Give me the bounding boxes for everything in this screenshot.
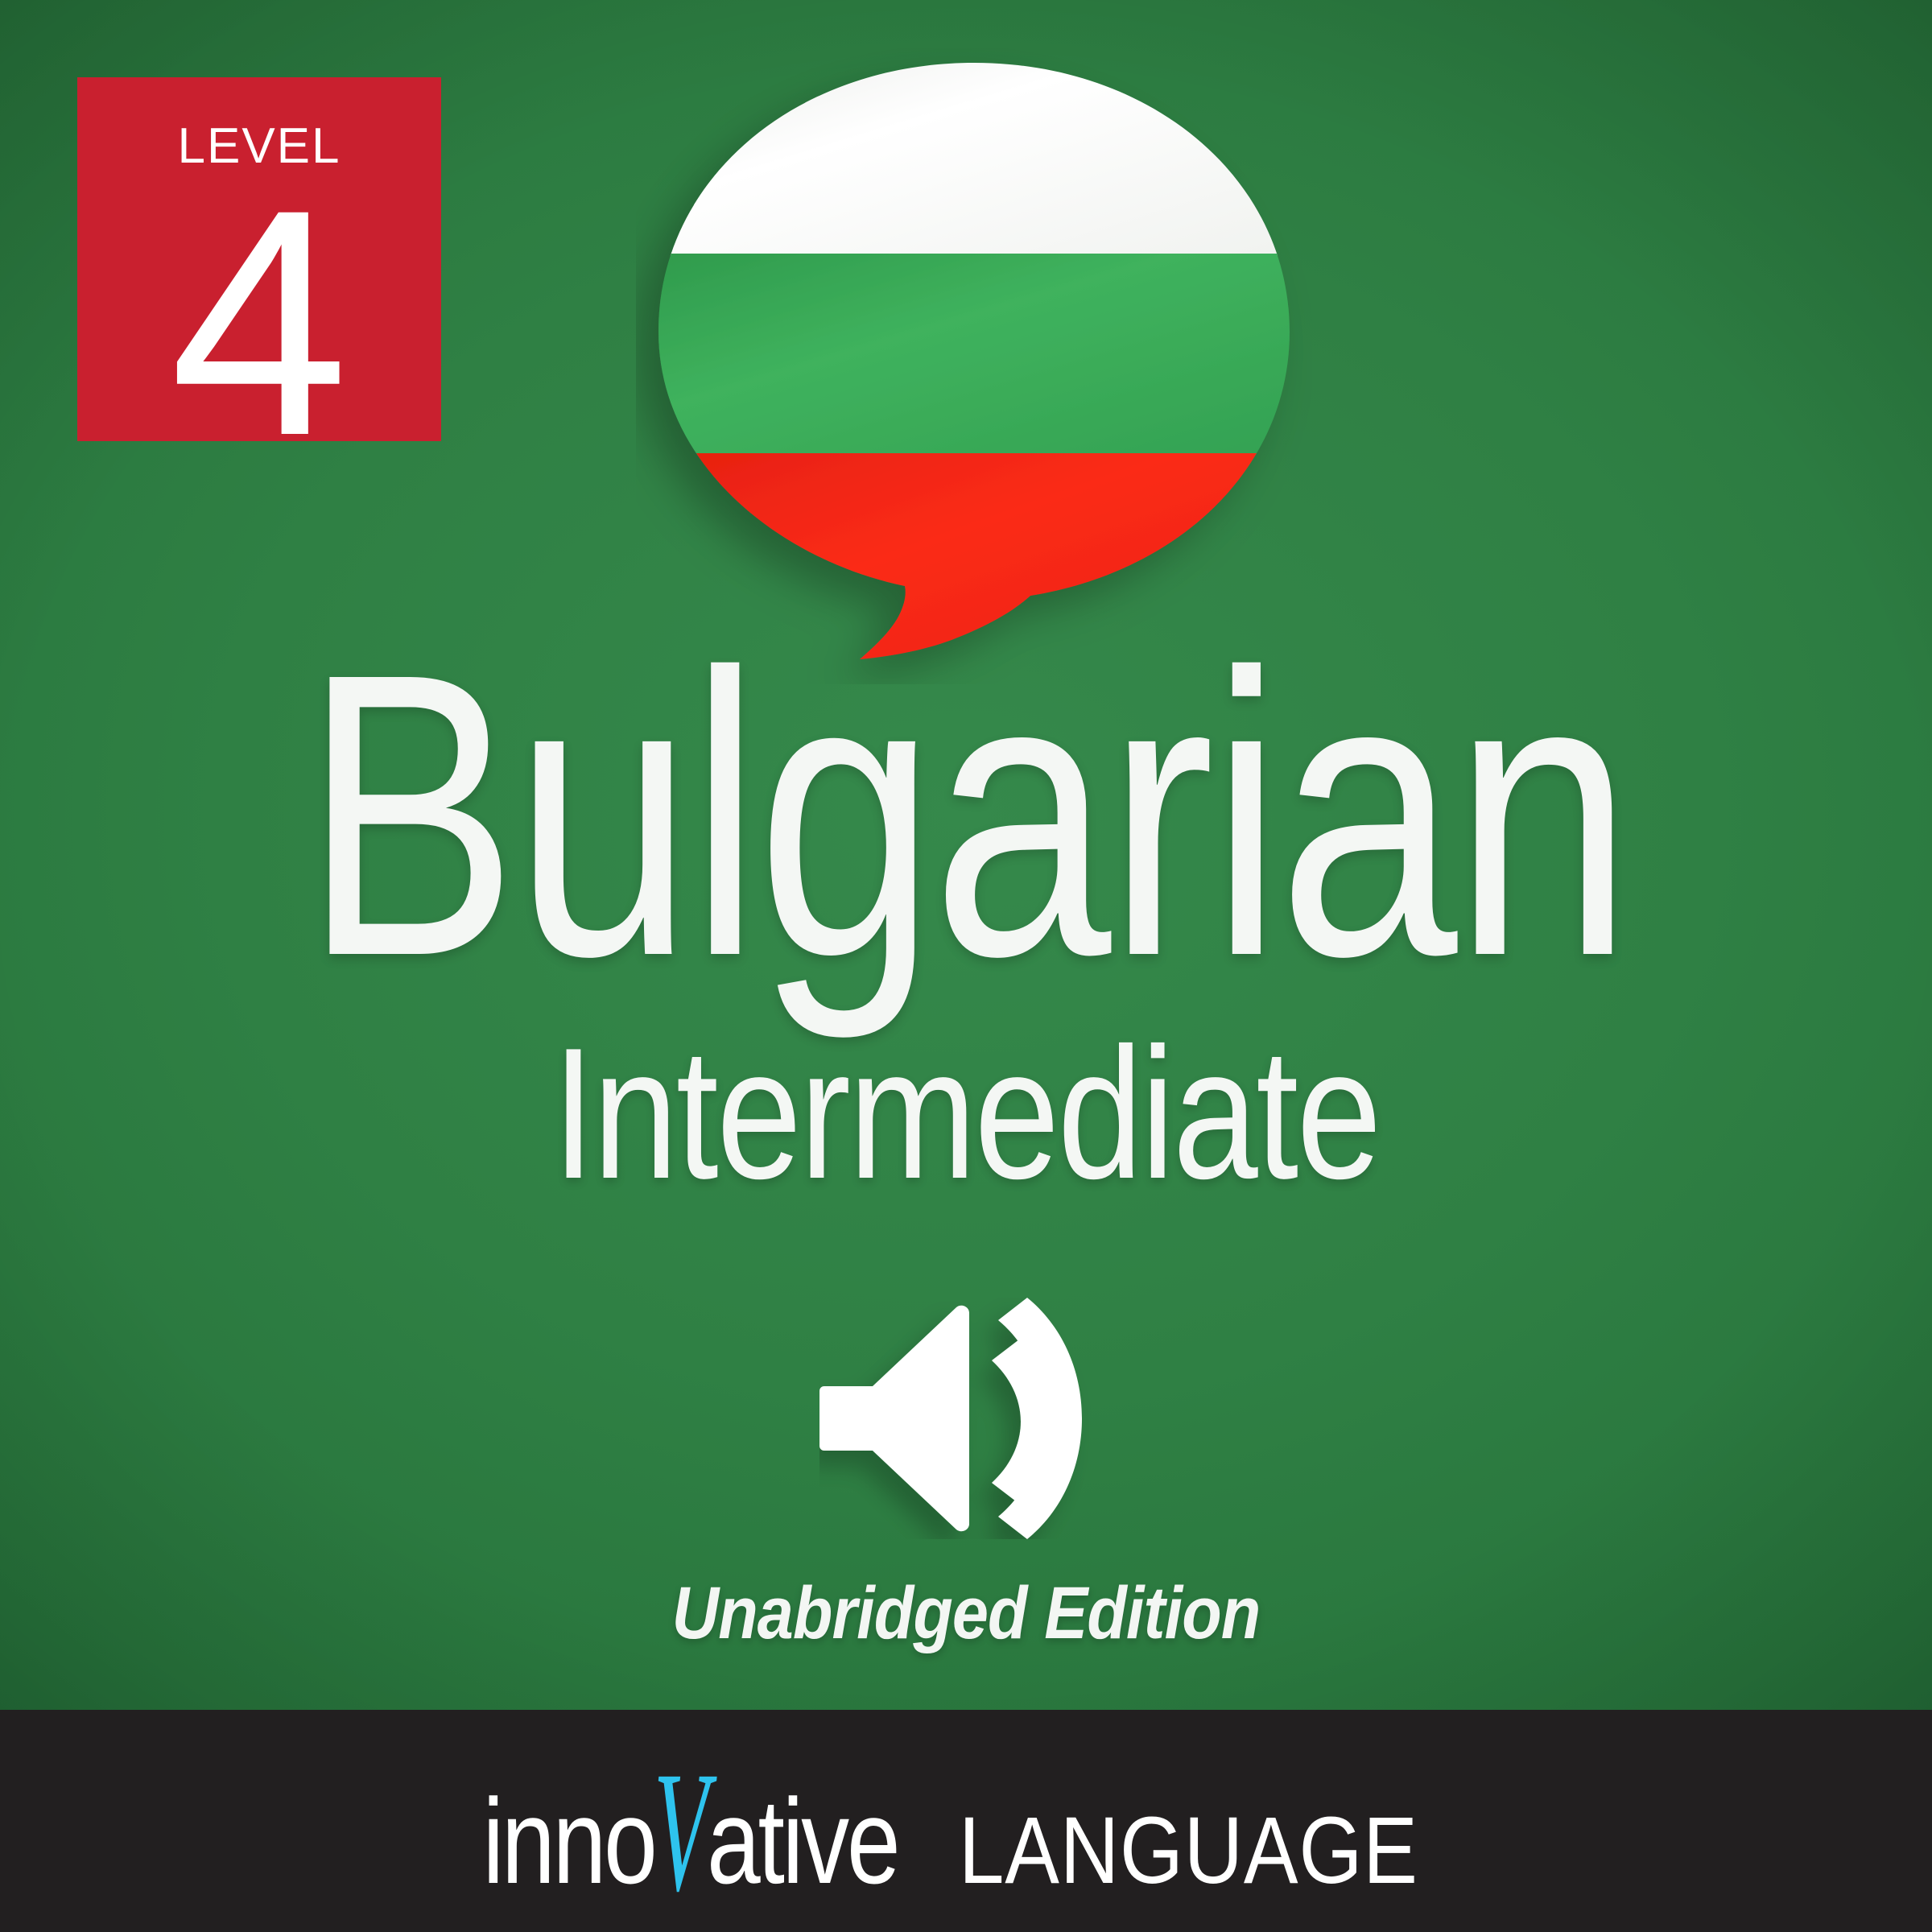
level-badge: LEVEL 4 [77, 77, 441, 441]
audiobook-cover: LEVEL 4 [0, 0, 1932, 1932]
footer-bar: inno V ative LANGUAGE [0, 1710, 1932, 1932]
logo-text-ative: ative [707, 1781, 898, 1901]
logo-text-inno: inno [482, 1781, 654, 1901]
edition-label: Unabridged Edition [116, 1576, 1816, 1650]
speaker-volume-icon [819, 1298, 1111, 1539]
level-badge-number: 4 [170, 184, 349, 461]
innovative-language-logo: inno V ative LANGUAGE [440, 1740, 1493, 1912]
page-subtitle: Intermediate [174, 1021, 1758, 1207]
logo-checkmark-v-icon: V [654, 1746, 704, 1918]
logo-text-language: LANGUAGE [959, 1803, 1418, 1898]
page-title: Bulgarian [193, 613, 1739, 1016]
